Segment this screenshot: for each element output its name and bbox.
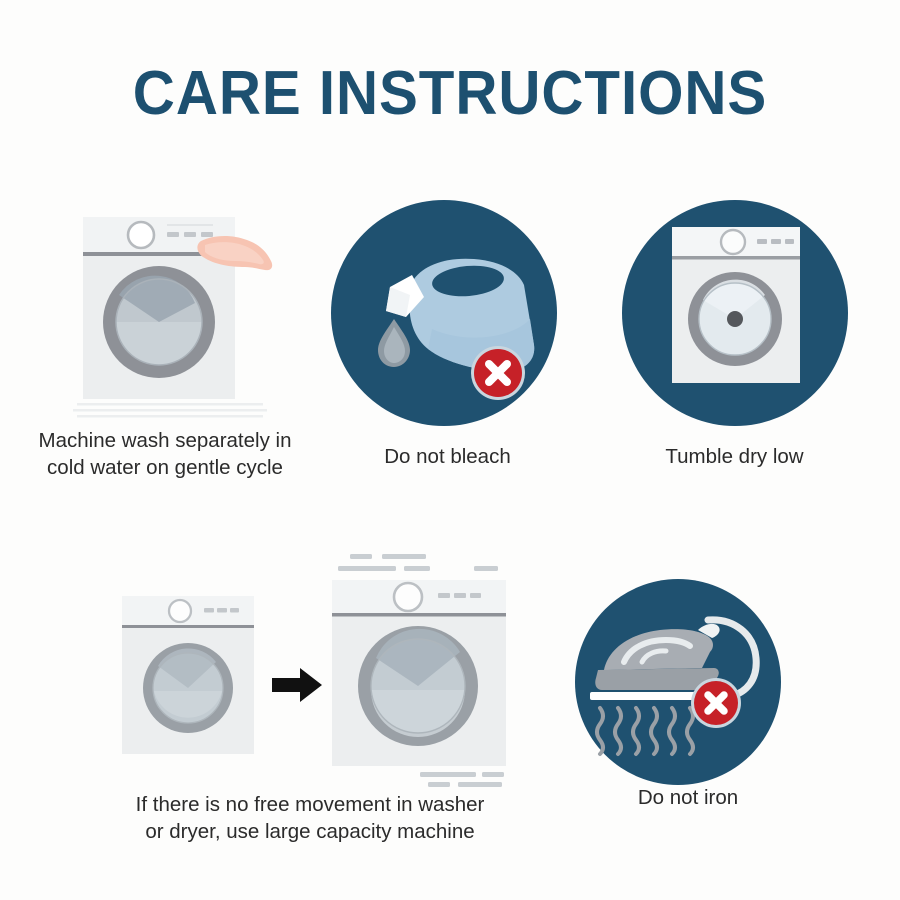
instruction-do-not-iron: Do not iron: [568, 572, 808, 842]
iron-icon: [568, 572, 798, 802]
caption-do-not-iron: Do not iron: [568, 784, 808, 811]
caption-line-2: cold water on gentle cycle: [0, 454, 330, 481]
caption-line-2: or dryer, use large capacity machine: [50, 818, 570, 845]
caption-do-not-bleach: Do not bleach: [325, 443, 570, 470]
bleach-bottle-icon: [328, 195, 568, 435]
expansion-marks-top: [338, 554, 498, 571]
caption-line-1: Do not bleach: [325, 443, 570, 470]
instruction-machine-wash: Machine wash separately in cold water on…: [0, 195, 330, 495]
care-instructions-infographic: CARE INSTRUCTIONS: [0, 0, 900, 900]
expansion-marks-bottom: [420, 772, 504, 787]
arrow-right-icon: [272, 668, 322, 702]
washer-size-upgrade-icon: [100, 548, 520, 788]
caption-line-1: Machine wash separately in: [0, 427, 330, 454]
caption-line-1: Do not iron: [568, 784, 808, 811]
caption-machine-wash: Machine wash separately in cold water on…: [0, 427, 330, 481]
caption-tumble-dry: Tumble dry low: [612, 443, 857, 470]
instruction-large-capacity: If there is no free movement in washer o…: [60, 548, 560, 858]
large-washer: [332, 580, 506, 766]
caption-large-capacity: If there is no free movement in washer o…: [50, 791, 570, 845]
instruction-do-not-bleach: Do not bleach: [325, 195, 570, 485]
tumble-dryer-icon: [615, 195, 855, 435]
instruction-tumble-dry: Tumble dry low: [612, 195, 857, 485]
small-washer: [122, 596, 254, 754]
washing-machine-hand-icon: [55, 195, 295, 425]
page-title: CARE INSTRUCTIONS: [27, 58, 873, 129]
caption-line-1: If there is no free movement in washer: [50, 791, 570, 818]
caption-line-1: Tumble dry low: [612, 443, 857, 470]
